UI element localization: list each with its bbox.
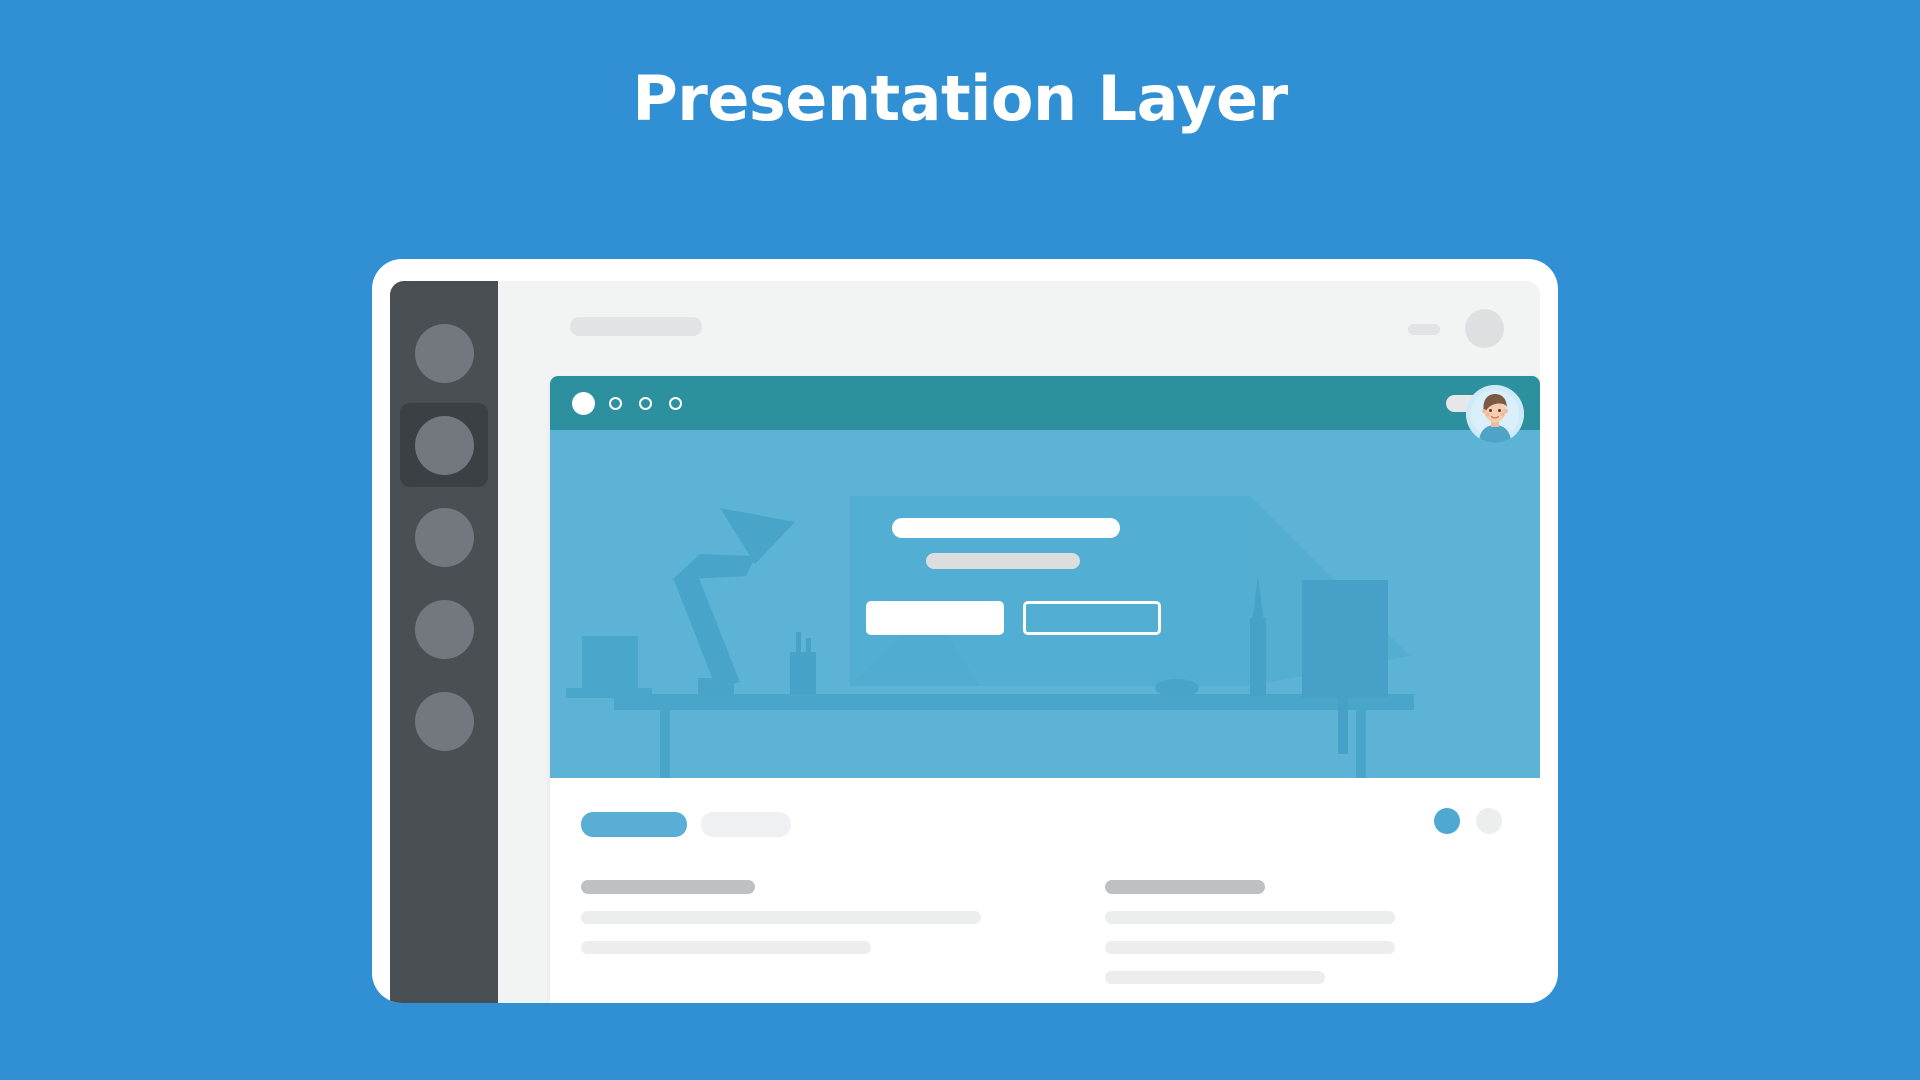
tab-inactive[interactable] bbox=[701, 812, 791, 837]
tab-bar bbox=[581, 812, 791, 837]
page-title: Presentation Layer bbox=[0, 62, 1920, 135]
profile-avatar-icon[interactable] bbox=[1465, 309, 1504, 348]
column-right-heading bbox=[1105, 880, 1265, 894]
sidebar-icon-5 bbox=[415, 692, 474, 751]
window-dot-outline-2-icon[interactable] bbox=[639, 397, 652, 410]
sidebar-item-1[interactable] bbox=[390, 307, 498, 399]
app-logo-placeholder bbox=[570, 317, 702, 336]
app-viewport bbox=[498, 281, 1540, 1003]
sidebar-item-2[interactable] bbox=[390, 399, 498, 491]
user-avatar-icon bbox=[1466, 385, 1524, 443]
sidebar-item-4[interactable] bbox=[390, 583, 498, 675]
column-left-line-1 bbox=[581, 911, 981, 924]
sidebar-item-5[interactable] bbox=[390, 675, 498, 767]
app-header bbox=[498, 281, 1540, 376]
hero-section bbox=[550, 430, 1540, 778]
sidebar-icon-4 bbox=[415, 600, 474, 659]
column-right-line-1 bbox=[1105, 911, 1395, 924]
window-dot-outline-1-icon[interactable] bbox=[609, 397, 622, 410]
content-columns bbox=[581, 880, 1505, 984]
content-section bbox=[550, 778, 1540, 1003]
sidebar-item-3[interactable] bbox=[390, 491, 498, 583]
column-right-line-2 bbox=[1105, 941, 1395, 954]
pagination-dots bbox=[1434, 808, 1502, 834]
hero-content bbox=[892, 518, 1161, 635]
hero-secondary-button[interactable] bbox=[1023, 601, 1161, 635]
window-dot-filled-icon[interactable] bbox=[572, 392, 595, 415]
sidebar-icon-1 bbox=[415, 324, 474, 383]
hero-headline-placeholder bbox=[892, 518, 1120, 538]
browser-window bbox=[550, 376, 1540, 1003]
column-right-line-3 bbox=[1105, 971, 1325, 984]
browser-titlebar bbox=[550, 376, 1540, 430]
user-avatar[interactable] bbox=[1466, 385, 1524, 443]
window-dot-outline-3-icon[interactable] bbox=[669, 397, 682, 410]
column-right bbox=[1105, 880, 1505, 984]
sidebar-icon-3 bbox=[415, 508, 474, 567]
sidebar-icon-2 bbox=[415, 416, 474, 475]
tablet-screen bbox=[390, 281, 1540, 1003]
page-dot-active[interactable] bbox=[1434, 808, 1460, 834]
hero-subtitle-placeholder bbox=[926, 553, 1080, 569]
minimize-icon[interactable] bbox=[1408, 324, 1440, 335]
column-left-heading bbox=[581, 880, 755, 894]
column-left bbox=[581, 880, 981, 984]
column-left-line-2 bbox=[581, 941, 871, 954]
page-dot-idle[interactable] bbox=[1476, 808, 1502, 834]
app-sidebar bbox=[390, 281, 498, 1003]
tab-active[interactable] bbox=[581, 812, 687, 837]
hero-primary-button[interactable] bbox=[866, 601, 1004, 635]
hero-button-group bbox=[866, 601, 1161, 635]
tablet-device bbox=[372, 259, 1558, 1003]
